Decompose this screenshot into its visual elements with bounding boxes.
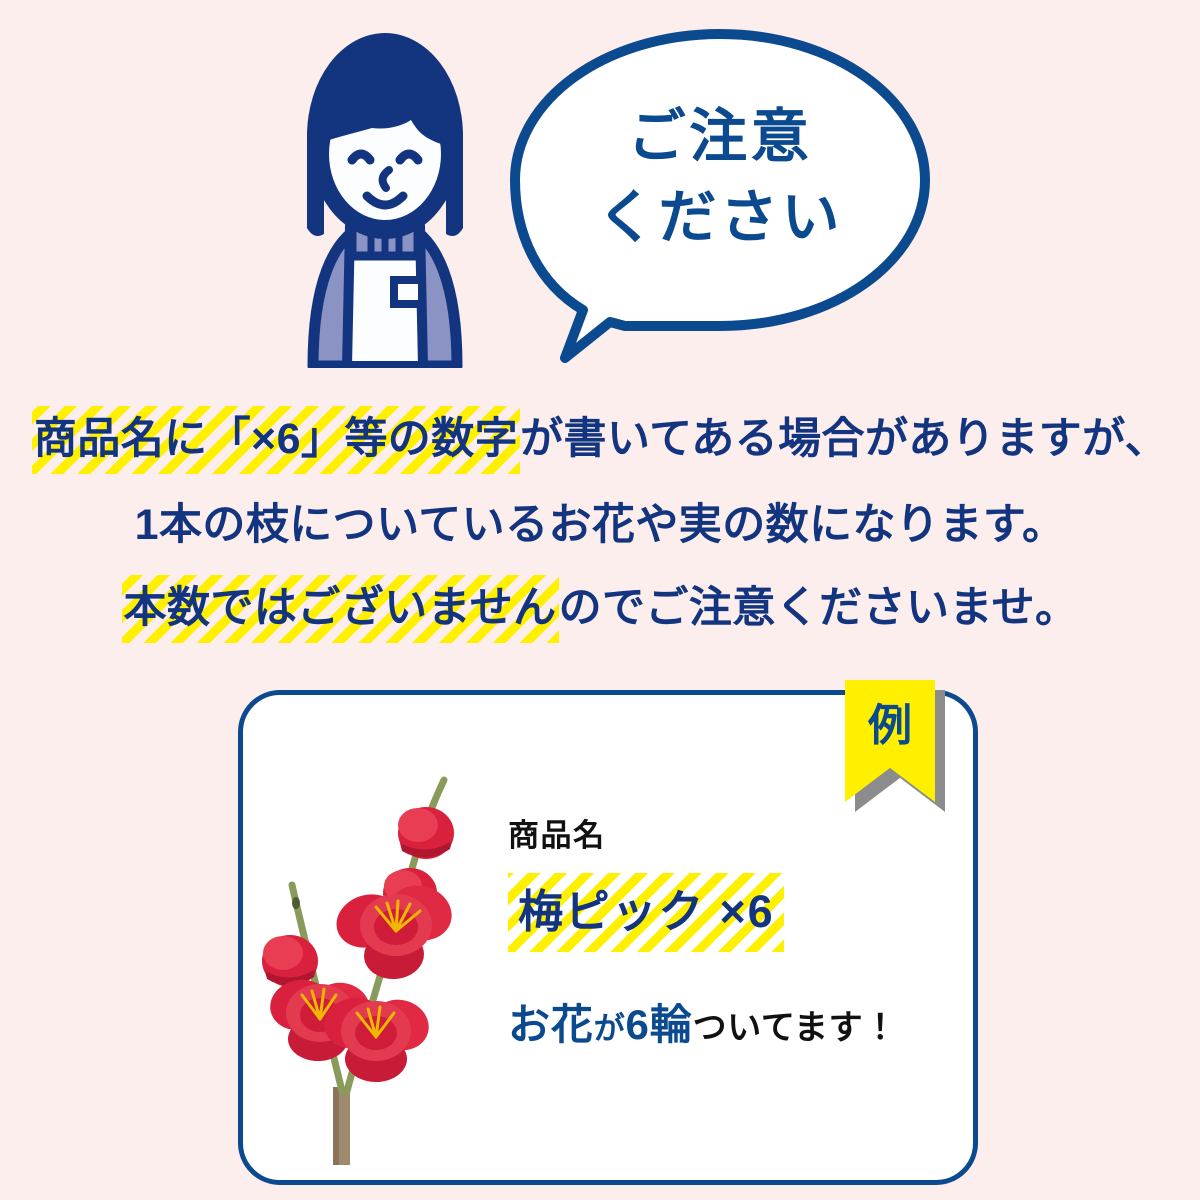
notice-line-3-highlight: 本数ではございません [122,575,559,643]
shop-staff-woman-illustration [272,28,498,368]
notice-line-2: 1本の枝についているお花や実の数になります。 [0,504,1200,547]
flower-count-word: お花 [508,1001,594,1048]
speech-bubble: ご注意 ください [505,22,935,372]
notice-line-3-plain: のでご注意くださいませ。 [559,584,1079,632]
flower-count-tail: ついてます！ [693,1009,898,1047]
flower-count-particle: が [594,1011,626,1046]
product-name-label: 商品名 [508,820,958,851]
flower-count-accent: お花が6輪 [508,1001,693,1048]
example-card-text: 商品名 梅ピック ×6 お花が6輪ついてます！ [508,820,958,1046]
notice-line-2-plain: 1本の枝についているお花や実の数になります。 [135,501,1066,549]
notice-line-1: 商品名に「×6」等の数字が書いてある場合がありますが、 [0,406,1200,474]
notice-text-block: 商品名に「×6」等の数字が書いてある場合がありますが、 1本の枝についているお花… [0,390,1200,643]
notice-line-1-highlight: 商品名に「×6」等の数字 [32,406,520,474]
flower-count-number: 6 [626,1001,650,1048]
flower-count-unit: 輪 [650,1001,693,1048]
example-ribbon-badge: 例 [845,680,935,802]
speech-bubble-text: ご注意 ください [505,96,935,258]
plum-branch-illustration [248,725,518,1175]
product-name-value: 梅ピック ×6 [508,873,784,952]
notice-line-3: 本数ではございませんのでご注意くださいませ。 [0,575,1200,643]
flower-count-note: お花が6輪ついてます！ [508,1004,958,1046]
hero-section: ご注意 ください [0,0,1200,390]
notice-line-1-plain: が書いてある場合がありますが、 [520,415,1168,463]
ribbon-label: 例 [845,704,935,748]
example-card-wrapper: 商品名 梅ピック ×6 お花が6輪ついてます！ 例 [238,690,978,1185]
product-name-row: 梅ピック ×6 [508,873,958,952]
